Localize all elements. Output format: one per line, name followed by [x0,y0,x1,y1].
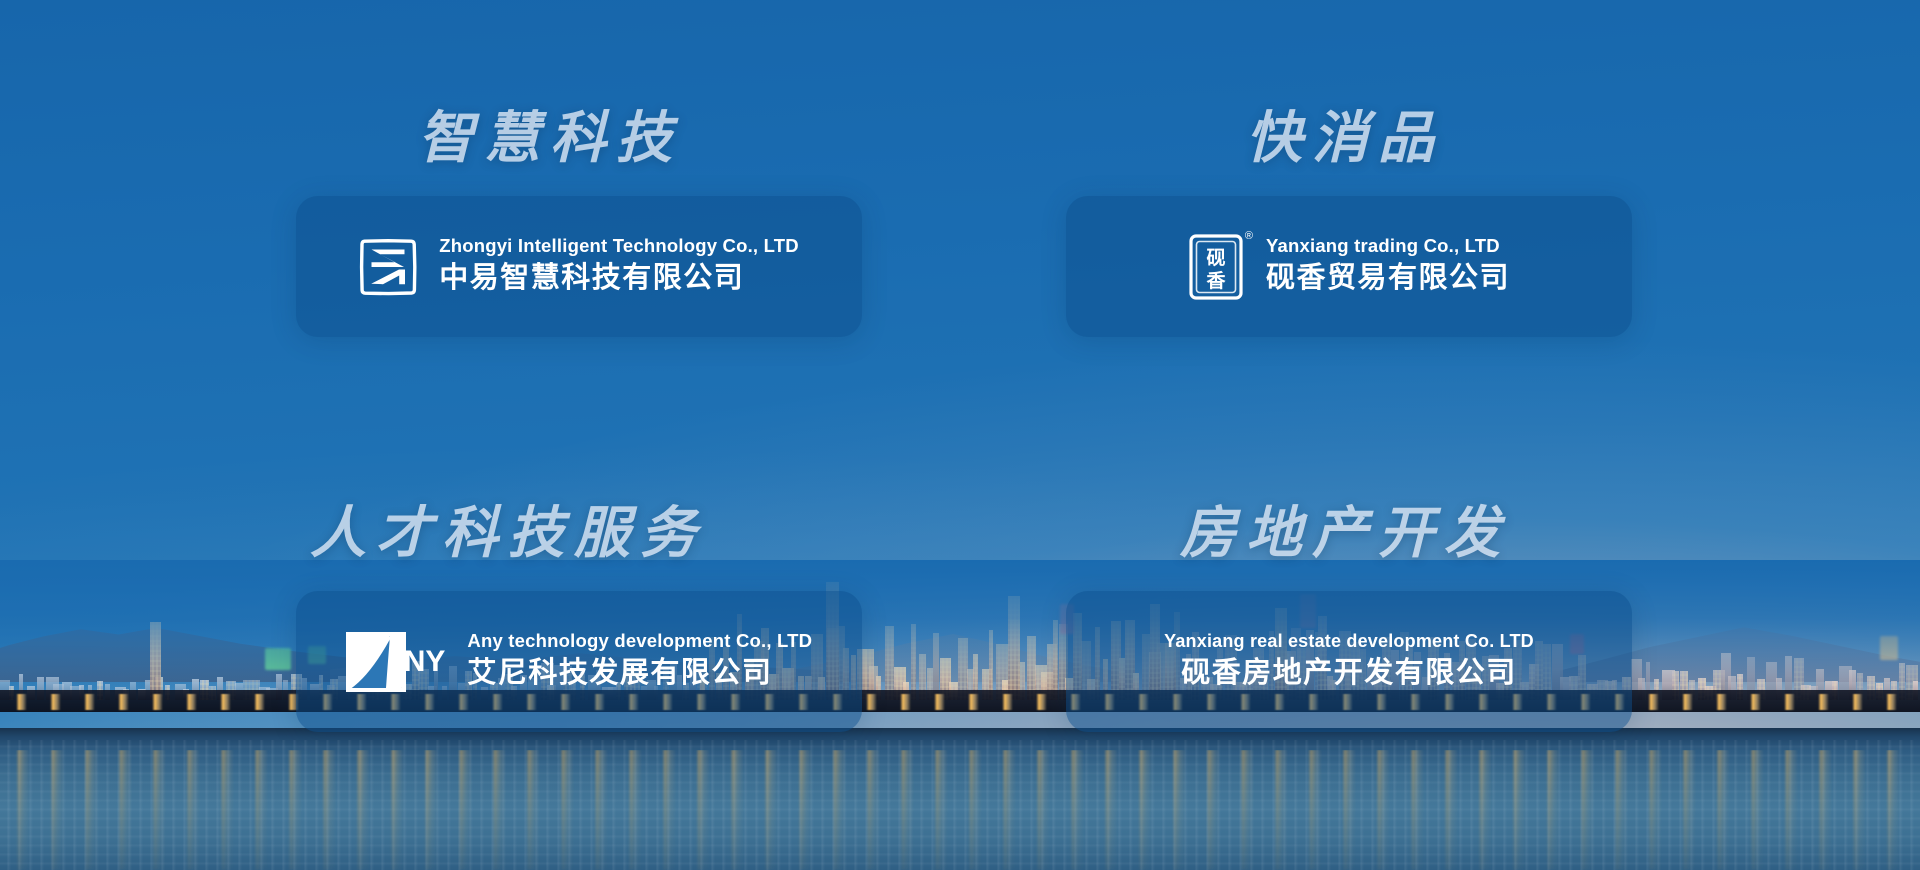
company-name-cn: 砚香房地产开发有限公司 [1181,654,1517,693]
segment-title-smart-technology: 智慧科技 [296,110,862,166]
company-names-any: Any technology development Co., LTD 艾尼科技… [467,629,812,693]
company-card-yanxiang-trading[interactable]: 砚 香 ® Yanxiang trading Co., LTD 砚香贸易有限公司 [1066,196,1632,337]
registered-trademark-icon: ® [1245,231,1253,242]
company-name-en: Yanxiang real estate development Co. LTD [1164,630,1534,653]
company-name-cn: 艾尼科技发展有限公司 [467,654,812,693]
any-logo-text: NY [404,647,446,677]
segments-grid: 智慧科技 Zhongyi Intelligent Technology Co.,… [0,0,1920,870]
company-name-en: Zhongyi Intelligent Technology Co., LTD [439,234,799,257]
company-names-yanxiang-real-estate: Yanxiang real estate development Co. LTD… [1164,630,1534,694]
company-name-en: Any technology development Co., LTD [467,629,812,652]
segment-real-estate: 房地产开发 Yanxiang real estate development C… [1066,505,1632,732]
segment-smart-technology: 智慧科技 Zhongyi Intelligent Technology Co.,… [296,110,862,337]
segment-fmcg: 快消品 砚 香 ® Yanxiang trading Co., LTD [1066,110,1632,337]
yanxiang-seal-logo: 砚 香 ® [1188,233,1244,301]
any-logo: NY [346,632,446,692]
company-name-cn: 中易智慧科技有限公司 [439,259,799,298]
segment-title-real-estate: 房地产开发 [1066,505,1632,561]
company-card-zhongyi[interactable]: Zhongyi Intelligent Technology Co., LTD … [296,196,862,337]
company-card-any[interactable]: NY Any technology development Co., LTD 艾… [296,591,862,732]
company-names-zhongyi: Zhongyi Intelligent Technology Co., LTD … [439,234,799,298]
company-card-yanxiang-real-estate[interactable]: Yanxiang real estate development Co. LTD… [1066,591,1632,732]
segment-title-talent-service: 人才科技服务 [296,505,862,561]
segment-talent-service: 人才科技服务 NY Any technology development C [296,505,862,732]
hero-banner: 智慧科技 Zhongyi Intelligent Technology Co.,… [0,0,1920,870]
svg-text:砚: 砚 [1206,247,1225,269]
segment-title-fmcg: 快消品 [1066,110,1632,166]
company-name-en: Yanxiang trading Co., LTD [1266,234,1510,257]
company-names-yanxiang-trading: Yanxiang trading Co., LTD 砚香贸易有限公司 [1266,234,1510,298]
company-name-cn: 砚香贸易有限公司 [1266,259,1510,298]
zhongyi-logo [359,238,417,296]
svg-text:香: 香 [1205,270,1226,292]
